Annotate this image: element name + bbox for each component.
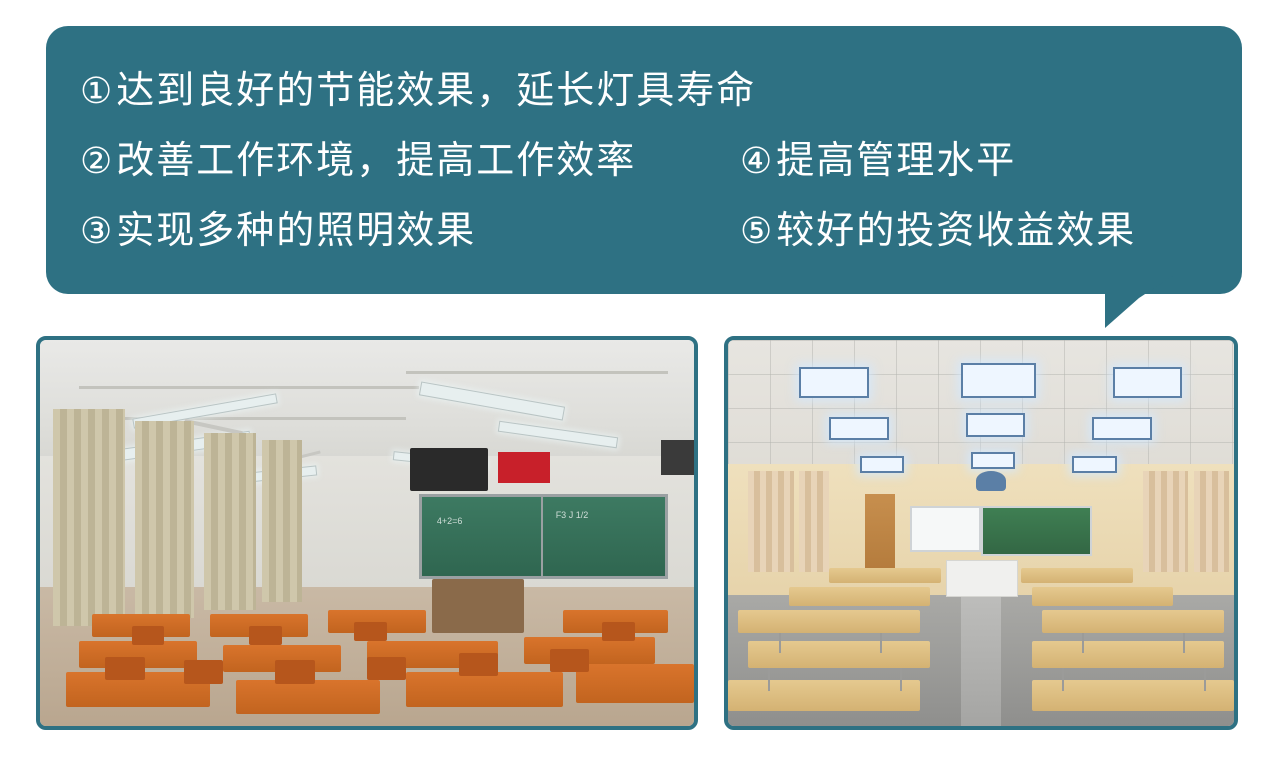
student-chair xyxy=(459,653,498,676)
student-chair xyxy=(367,657,406,680)
list-marker-3: ③ xyxy=(80,211,114,252)
desk-leg xyxy=(900,668,902,691)
desk-leg xyxy=(1062,668,1064,691)
window-curtain xyxy=(135,421,194,618)
window-curtain xyxy=(204,433,256,611)
benefits-callout: ①达到良好的节能效果，延长灯具寿命 ②改善工作环境，提高工作效率 ④提高管理水平… xyxy=(46,26,1242,294)
student-chair xyxy=(105,657,144,680)
student-chair xyxy=(249,626,282,645)
led-panel-light xyxy=(961,363,1036,398)
desk-leg xyxy=(1204,668,1206,691)
led-panel-light xyxy=(799,367,869,398)
student-desk xyxy=(789,587,931,606)
classroom-door xyxy=(865,494,895,571)
led-panel-light xyxy=(971,452,1015,470)
desk-leg xyxy=(768,668,770,691)
window-curtain xyxy=(1143,471,1189,571)
student-desk xyxy=(738,610,920,633)
student-chair xyxy=(132,626,165,645)
student-chair xyxy=(354,622,387,641)
list-marker-1: ① xyxy=(80,71,114,112)
student-desk xyxy=(1032,641,1224,668)
teacher-podium xyxy=(432,579,524,633)
window-curtain xyxy=(1194,471,1229,571)
desk-leg xyxy=(1183,633,1185,652)
led-panel-light xyxy=(1072,456,1116,474)
list-marker-5: ⑤ xyxy=(740,211,774,252)
national-flag xyxy=(498,452,550,483)
chalkboard-note-2: F3 J 1/2 xyxy=(556,510,589,520)
list-text-1: 达到良好的节能效果，延长灯具寿命 xyxy=(116,68,756,112)
window-curtain xyxy=(799,471,829,571)
led-panel-light xyxy=(829,417,889,440)
student-desk xyxy=(406,672,563,707)
student-desk xyxy=(1042,610,1224,633)
list-item: ③实现多种的照明效果 xyxy=(80,210,740,252)
list-item: ⑤较好的投资收益效果 xyxy=(740,210,1208,252)
student-desk xyxy=(1032,587,1174,606)
classroom-after-photo xyxy=(724,336,1238,730)
list-marker-4: ④ xyxy=(740,141,774,182)
projector-mount xyxy=(976,471,1006,490)
ceiling-pipe xyxy=(406,371,668,374)
classroom-before-photo: 4+2=6 F3 J 1/2 xyxy=(36,336,698,730)
student-desk xyxy=(236,680,380,715)
list-item: ④提高管理水平 xyxy=(740,140,1208,182)
list-item: ②改善工作环境，提高工作效率 xyxy=(80,140,740,182)
desk-leg xyxy=(880,633,882,652)
student-chair xyxy=(275,660,314,683)
ceiling-pipe xyxy=(79,386,419,389)
led-panel-light xyxy=(1113,367,1183,398)
led-panel-light xyxy=(1092,417,1152,440)
teacher-podium xyxy=(946,560,1019,597)
chalkboard xyxy=(981,506,1092,556)
student-desk xyxy=(728,680,920,711)
benefits-list: ①达到良好的节能效果，延长灯具寿命 ②改善工作环境，提高工作效率 ④提高管理水平… xyxy=(80,56,1208,266)
window-curtain xyxy=(53,409,125,625)
led-panel-light xyxy=(966,413,1026,436)
list-text-5: 较好的投资收益效果 xyxy=(776,208,1136,252)
chalkboard: 4+2=6 F3 J 1/2 xyxy=(419,494,668,579)
callout-tail xyxy=(1105,276,1173,328)
list-text-4: 提高管理水平 xyxy=(776,138,1016,182)
floor-aisle xyxy=(961,595,1001,726)
wall-speaker xyxy=(661,440,694,475)
student-chair xyxy=(550,649,589,672)
desk-leg xyxy=(1082,633,1084,652)
list-text-3: 实现多种的照明效果 xyxy=(116,208,476,252)
window-curtain xyxy=(748,471,794,571)
projector-panel xyxy=(410,448,488,490)
whiteboard xyxy=(910,506,981,552)
student-desk xyxy=(748,641,930,668)
student-desk xyxy=(1021,568,1132,583)
student-desk xyxy=(524,637,655,664)
student-chair xyxy=(602,622,635,641)
desk-leg xyxy=(779,633,781,652)
list-marker-2: ② xyxy=(80,141,114,182)
chalkboard-note-1: 4+2=6 xyxy=(437,516,463,526)
window-curtain xyxy=(262,440,301,602)
student-desk xyxy=(829,568,940,583)
student-desk xyxy=(576,664,694,703)
led-panel-light xyxy=(860,456,904,474)
list-item: ①达到良好的节能效果，延长灯具寿命 xyxy=(80,70,1208,112)
list-text-2: 改善工作环境，提高工作效率 xyxy=(116,138,636,182)
student-chair xyxy=(184,660,223,683)
